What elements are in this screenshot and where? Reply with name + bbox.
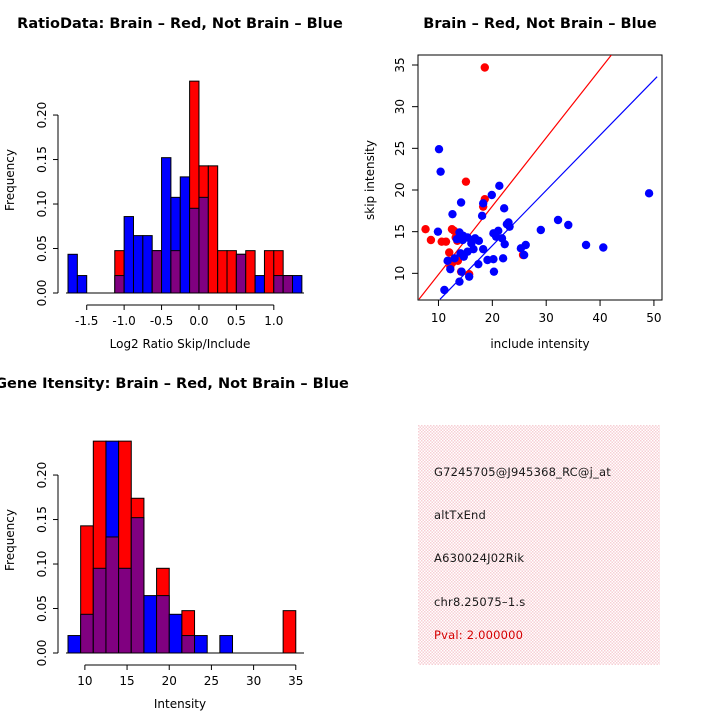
histogram-bar xyxy=(246,251,255,293)
scatter-point xyxy=(455,277,463,285)
x-tick-label: 1.0 xyxy=(264,314,283,328)
scatter-point xyxy=(554,216,562,224)
histogram-bar xyxy=(195,636,208,653)
scatter-point xyxy=(479,199,487,207)
r-multipanel-figure: RatioData: Brain – Red, Not Brain – Blue… xyxy=(0,0,720,720)
scatter-point xyxy=(459,236,467,244)
histogram-bar-overlap xyxy=(157,596,170,653)
x-tick-label: 0.5 xyxy=(227,314,246,328)
scatter-point xyxy=(537,226,545,234)
intensity-scatter-title: Brain – Red, Not Brain – Blue xyxy=(423,16,657,32)
histogram-bar xyxy=(180,177,189,293)
scatter-point xyxy=(645,189,653,197)
blue-reference-line xyxy=(440,77,657,300)
scatter-point xyxy=(479,245,487,253)
scatter-point xyxy=(522,241,530,249)
scatter-point xyxy=(478,212,486,220)
histogram-bar-overlap xyxy=(236,254,245,293)
intensity-scatter-axes: 1020304050101520253035 xyxy=(393,57,662,325)
y-tick-label: 0.00 xyxy=(35,280,49,307)
histogram-bar xyxy=(77,276,86,293)
gene-symbol-label: A630024J02Rik xyxy=(434,551,524,565)
scatter-point xyxy=(436,167,444,175)
x-tick-label: 20 xyxy=(485,311,500,325)
scatter-point xyxy=(488,191,496,199)
x-tick-label: 15 xyxy=(119,674,134,688)
x-tick-label: 35 xyxy=(288,674,303,688)
histogram-bar-overlap xyxy=(283,276,292,293)
scatter-point xyxy=(457,198,465,206)
x-tick-label: 10 xyxy=(77,674,92,688)
histogram-bar-overlap xyxy=(190,208,199,293)
scatter-point xyxy=(501,240,509,248)
histogram-bar xyxy=(218,251,227,293)
scatter-point xyxy=(421,225,429,233)
ratio-histogram-bars xyxy=(68,81,302,293)
histogram-bar-overlap xyxy=(119,568,132,653)
histogram-bar xyxy=(144,596,157,653)
histogram-bar-overlap xyxy=(115,276,124,293)
scatter-point xyxy=(442,237,450,245)
probeset-id-label: G7245705@J945368_RC@j_at xyxy=(434,465,611,479)
intensity-scatter-plotarea xyxy=(418,55,662,300)
scatter-point xyxy=(450,254,458,262)
y-tick-label: 30 xyxy=(393,99,407,114)
y-tick-label: 0.10 xyxy=(35,191,49,218)
scatter-point xyxy=(481,63,489,71)
histogram-bar-overlap xyxy=(106,537,119,653)
gene-annotation-box: G7245705@J945368_RC@j_at altTxEnd A63002… xyxy=(418,425,660,665)
ratio-histogram-svg: RatioData: Brain – Red, Not Brain – Blue… xyxy=(0,0,360,360)
histogram-bar-overlap xyxy=(274,276,283,293)
y-tick-label: 0.05 xyxy=(35,235,49,262)
scatter-point xyxy=(457,267,465,275)
x-tick-label: -0.5 xyxy=(150,314,173,328)
gene-intensity-histogram-ylabel: Frequency xyxy=(3,509,17,571)
gene-intensity-histogram-svg: Gene Itensity: Brain – Red, Not Brain – … xyxy=(0,360,360,720)
x-tick-label: 0.0 xyxy=(189,314,208,328)
y-tick-label: 0.20 xyxy=(35,462,49,489)
x-tick-label: -1.5 xyxy=(75,314,98,328)
scatter-point xyxy=(435,145,443,153)
scatter-point xyxy=(499,254,507,262)
gene-annotation-lines: G7245705@J945368_RC@j_at altTxEnd A63002… xyxy=(418,425,660,665)
scatter-point xyxy=(427,236,435,244)
y-tick-label: 0.05 xyxy=(35,595,49,622)
scatter-point xyxy=(474,260,482,268)
scatter-point xyxy=(490,267,498,275)
histogram-bar-overlap xyxy=(131,518,144,653)
scatter-point xyxy=(434,227,442,235)
y-tick-label: 15 xyxy=(393,224,407,239)
x-tick-label: 40 xyxy=(592,311,607,325)
gene-annotation-panel: G7245705@J945368_RC@j_at altTxEnd A63002… xyxy=(360,360,720,720)
x-tick-label: 10 xyxy=(431,311,446,325)
ratio-histogram-title: RatioData: Brain – Red, Not Brain – Blue xyxy=(17,16,343,32)
scatter-point xyxy=(475,237,483,245)
y-tick-label: 20 xyxy=(393,182,407,197)
histogram-bar-overlap xyxy=(152,251,161,293)
gene-intensity-histogram-bars xyxy=(68,441,296,653)
histogram-bar xyxy=(208,166,217,293)
histogram-bar xyxy=(143,236,152,293)
x-tick-label: 30 xyxy=(246,674,261,688)
histogram-bar-overlap xyxy=(81,614,94,653)
scatter-point xyxy=(460,252,468,260)
ratio-histogram-xlabel: Log2 Ratio Skip/Include xyxy=(110,337,251,351)
y-tick-label: 0.15 xyxy=(35,506,49,533)
x-tick-label: 50 xyxy=(646,311,661,325)
scatter-point xyxy=(582,241,590,249)
histogram-bar-overlap xyxy=(93,568,106,653)
scatter-point xyxy=(520,251,528,259)
x-tick-label: 30 xyxy=(539,311,554,325)
y-tick-label: 0.20 xyxy=(35,102,49,129)
intensity-scatter-xlabel: include intensity xyxy=(490,337,589,351)
scatter-point xyxy=(599,243,607,251)
scatter-point xyxy=(440,286,448,294)
histogram-bar xyxy=(68,636,81,653)
scatter-point xyxy=(469,245,477,253)
x-tick-label: 25 xyxy=(204,674,219,688)
y-tick-label: 10 xyxy=(393,266,407,281)
ratio-histogram-ylabel: Frequency xyxy=(3,149,17,211)
scatter-point xyxy=(462,177,470,185)
histogram-bar xyxy=(220,636,233,653)
histogram-bar xyxy=(264,251,273,293)
gene-intensity-histogram-xlabel: Intensity xyxy=(154,697,206,711)
x-tick-label: 20 xyxy=(162,674,177,688)
chromosome-location-label: chr8.25075–1.s xyxy=(434,595,525,609)
histogram-bar xyxy=(68,254,77,293)
pvalue-label: Pval: 2.000000 xyxy=(434,628,523,642)
x-tick-label: -1.0 xyxy=(112,314,135,328)
scatter-point xyxy=(505,222,513,230)
scatter-point xyxy=(500,204,508,212)
scatter-point xyxy=(495,182,503,190)
y-tick-label: 0.15 xyxy=(35,146,49,173)
scatter-point xyxy=(489,255,497,263)
y-tick-label: 0.00 xyxy=(35,640,49,667)
histogram-bar xyxy=(124,217,133,293)
histogram-bar xyxy=(283,611,296,653)
ratio-histogram-panel: RatioData: Brain – Red, Not Brain – Blue… xyxy=(0,0,360,360)
intensity-scatter-panel: Brain – Red, Not Brain – Blue include in… xyxy=(360,0,720,360)
scatter-point xyxy=(564,221,572,229)
histogram-bar-overlap xyxy=(182,636,195,653)
histogram-bar xyxy=(162,158,171,293)
histogram-bar-overlap xyxy=(199,197,208,293)
scatter-inner xyxy=(419,55,657,299)
event-type-label: altTxEnd xyxy=(434,508,486,522)
gene-intensity-histogram-panel: Gene Itensity: Brain – Red, Not Brain – … xyxy=(0,360,360,720)
histogram-bar xyxy=(133,236,142,293)
scatter-point xyxy=(448,210,456,218)
histogram-bar xyxy=(293,276,302,293)
y-tick-label: 25 xyxy=(393,141,407,156)
y-tick-label: 0.10 xyxy=(35,551,49,578)
histogram-bar xyxy=(169,614,182,653)
gene-intensity-histogram-title: Gene Itensity: Brain – Red, Not Brain – … xyxy=(0,376,349,392)
y-tick-label: 35 xyxy=(393,57,407,72)
scatter-point xyxy=(465,272,473,280)
intensity-scatter-svg: Brain – Red, Not Brain – Blue include in… xyxy=(360,0,720,360)
histogram-bar xyxy=(227,251,236,293)
histogram-bar-overlap xyxy=(171,251,180,293)
scatter-point xyxy=(446,265,454,273)
intensity-scatter-ylabel: skip intensity xyxy=(363,140,377,220)
histogram-bar xyxy=(255,276,264,293)
